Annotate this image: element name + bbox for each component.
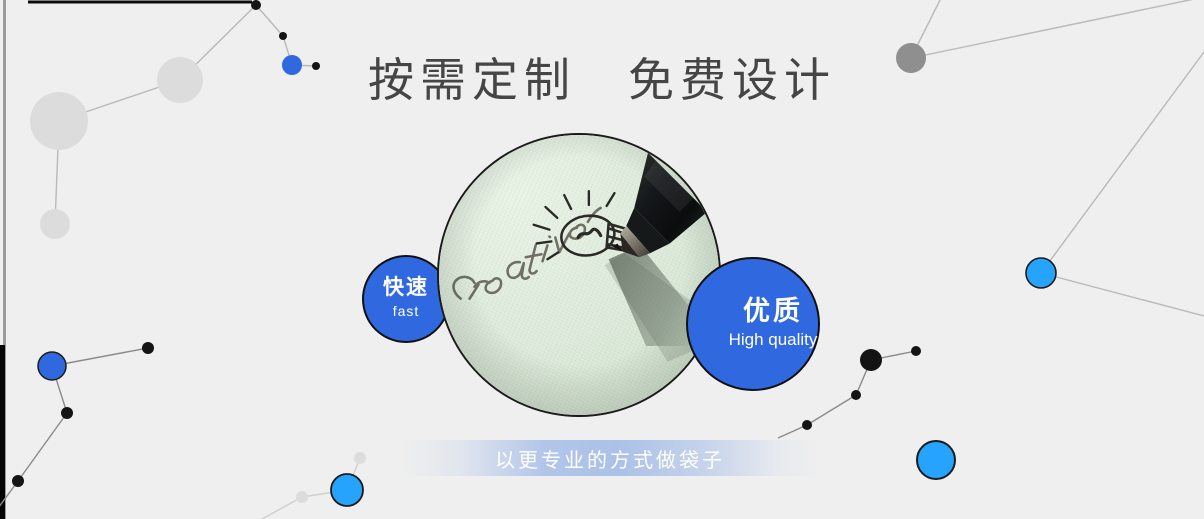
node-pale-lower xyxy=(40,209,70,239)
tagline-ribbon: 以更专业的方式做袋子 xyxy=(402,440,818,476)
photo-contents xyxy=(439,135,719,415)
photo-vignette xyxy=(439,135,719,415)
node-dark-right-a xyxy=(911,346,921,356)
node-cyan-bottom-right xyxy=(917,441,955,479)
node-upper-dark xyxy=(279,32,287,40)
left-edge-black-rule xyxy=(0,345,5,519)
bubble-fast-subtitle: fast xyxy=(383,301,429,322)
node-blue-left xyxy=(38,352,66,380)
node-dark-right-big xyxy=(860,349,882,371)
node-pale-bottom-a xyxy=(354,452,366,464)
creative-photo-circle xyxy=(437,133,721,417)
bubble-quality-subtitle: High quality xyxy=(729,327,818,353)
node-top-left-dark xyxy=(251,0,261,10)
node-cyan-bottom xyxy=(331,474,363,506)
promo-banner: 按需定制 免费设计 快速 fast xyxy=(0,0,1204,519)
bubble-inner: 优质 High quality xyxy=(729,296,818,353)
node-dark-right-b xyxy=(851,390,861,400)
node-dark-left-c xyxy=(12,475,24,487)
feature-bubble-quality[interactable]: 优质 High quality xyxy=(686,257,820,391)
page-title: 按需定制 免费设计 xyxy=(0,44,1204,110)
bubble-fast-title: 快速 xyxy=(383,276,429,300)
node-cyan-right xyxy=(1026,258,1056,288)
bubble-inner: 快速 fast xyxy=(383,276,429,321)
tagline-text: 以更专业的方式做袋子 xyxy=(495,444,725,473)
node-dark-left-a xyxy=(142,342,154,354)
node-dark-right-c xyxy=(802,420,812,430)
bubble-quality-title: 优质 xyxy=(729,296,818,327)
node-pale-bottom-b xyxy=(296,491,308,503)
node-dark-left-b xyxy=(61,407,73,419)
